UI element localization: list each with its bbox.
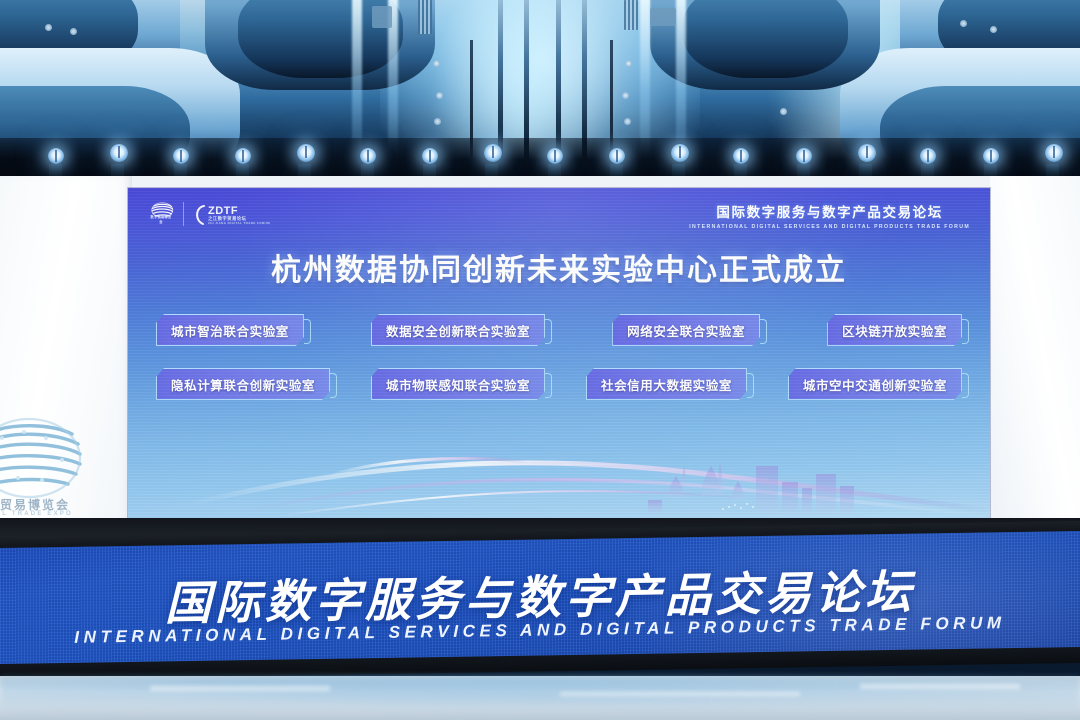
ceiling-downlight <box>433 60 440 67</box>
screen-forum-title-cn: 国际数字服务与数字产品交易论坛 <box>689 201 970 221</box>
screen-forum-title: 国际数字服务与数字产品交易论坛 INTERNATIONAL DIGITAL SE… <box>689 201 970 230</box>
ceiling-downlight <box>625 60 632 67</box>
spotlight <box>48 148 64 164</box>
lab-button-wrapper: 区块链开放实验室 <box>827 314 962 346</box>
ceiling-vent-grill <box>418 0 432 34</box>
ceiling-vent-grill <box>624 0 638 30</box>
screen-header-logos: 数字贸易博览会 ZDTF 之江数字贸易论坛 ZHI JIANG DIGITAL … <box>150 200 249 228</box>
ceiling-downlight <box>990 26 997 33</box>
floor-highlight <box>150 686 330 691</box>
right-wall-panel: HANGZHOU ZDTF 之江数字贸 ZHI JIANG DIGITAL <box>990 176 1080 526</box>
screen-forum-title-en: INTERNATIONAL DIGITAL SERVICES AND DIGIT… <box>689 224 970 230</box>
lab-button-row: 城市智治联合实验室数据安全创新联合实验室网络安全联合实验室区块链开放实验室 <box>156 314 962 346</box>
ceiling-panel-midright-cut <box>683 0 848 78</box>
lab-button[interactable]: 区块链开放实验室 <box>827 314 962 346</box>
floor-highlight <box>860 684 1020 689</box>
lab-button-wrapper: 隐私计算联合创新实验室 <box>156 368 330 400</box>
spotlight <box>858 144 876 162</box>
ceiling-downlight <box>45 24 52 31</box>
lab-button[interactable]: 城市智治联合实验室 <box>156 314 304 346</box>
spotlight <box>983 148 999 164</box>
screen-zdtf-en: ZHI JIANG DIGITAL TRADE FORUM <box>208 221 270 225</box>
ceiling-downlight <box>624 118 631 125</box>
logo-divider <box>183 202 184 226</box>
lab-button-wrapper: 城市物联感知联合实验室 <box>371 368 545 400</box>
ceiling-downlight <box>436 92 443 99</box>
screen-globe-caption: 数字贸易博览会 <box>150 214 172 224</box>
ceiling-downlight <box>960 20 967 27</box>
ceiling-downlight <box>434 118 441 125</box>
screen-zdtf-logo: ZDTF 之江数字贸易论坛 ZHI JIANG DIGITAL TRADE FO… <box>193 200 249 228</box>
screen-main-title: 杭州数据协同创新未来实验中心正式成立 <box>128 245 990 289</box>
lab-button-wrapper: 城市智治联合实验室 <box>156 314 304 346</box>
spotlight <box>609 148 625 164</box>
ceiling-downlight <box>780 108 787 115</box>
floor-reflection <box>0 676 1080 720</box>
screen-globe-icon: 数字贸易博览会 <box>150 202 174 226</box>
main-led-screen: 数字贸易博览会 ZDTF 之江数字贸易论坛 ZHI JIANG DIGITAL … <box>128 188 990 518</box>
spotlight <box>173 148 189 164</box>
stage-floor <box>0 676 1080 720</box>
ceiling-downlight <box>622 92 629 99</box>
ceiling-equipment-box <box>372 6 392 28</box>
digital-trade-expo-globe-icon: TE 数字贸易博览会 DIGITAL TRADE EXPO <box>0 408 92 504</box>
lab-button-wrapper: 网络安全联合实验室 <box>612 314 760 346</box>
spotlight <box>796 148 812 164</box>
lab-button-wrapper: 城市空中交通创新实验室 <box>788 368 962 400</box>
lab-button[interactable]: 网络安全联合实验室 <box>612 314 760 346</box>
lab-button[interactable]: 隐私计算联合创新实验室 <box>156 368 330 400</box>
lab-button[interactable]: 数据安全创新联合实验室 <box>371 314 545 346</box>
spotlight <box>235 148 251 164</box>
left-wall-panel: TE 数字贸易博览会 DIGITAL TRADE EXPO <box>0 176 132 526</box>
screen-skyline-graphic <box>128 426 990 518</box>
lab-button[interactable]: 城市空中交通创新实验室 <box>788 368 962 400</box>
forum-stage-photo: TE 数字贸易博览会 DIGITAL TRADE EXPO HANGZHOU Z… <box>0 0 1080 720</box>
lab-button-wrapper: 数据安全创新联合实验室 <box>371 314 545 346</box>
floor-highlight <box>560 692 800 696</box>
spotlight <box>1045 144 1063 162</box>
spotlight <box>547 148 563 164</box>
lab-button-row: 隐私计算联合创新实验室城市物联感知联合实验室社会信用大数据实验室城市空中交通创新… <box>156 368 962 400</box>
lab-button-grid: 城市智治联合实验室数据安全创新联合实验室网络安全联合实验室区块链开放实验室隐私计… <box>156 314 962 422</box>
spotlight <box>671 144 689 162</box>
spotlight <box>422 148 438 164</box>
lab-button-wrapper: 社会信用大数据实验室 <box>586 368 747 400</box>
spotlight <box>360 148 376 164</box>
ceiling-equipment-box <box>650 8 676 26</box>
left-wall-title-en: DIGITAL TRADE EXPO <box>0 511 96 517</box>
ceiling-downlight <box>70 28 77 35</box>
lab-button[interactable]: 社会信用大数据实验室 <box>586 368 747 400</box>
lab-button[interactable]: 城市物联感知联合实验室 <box>371 368 545 400</box>
